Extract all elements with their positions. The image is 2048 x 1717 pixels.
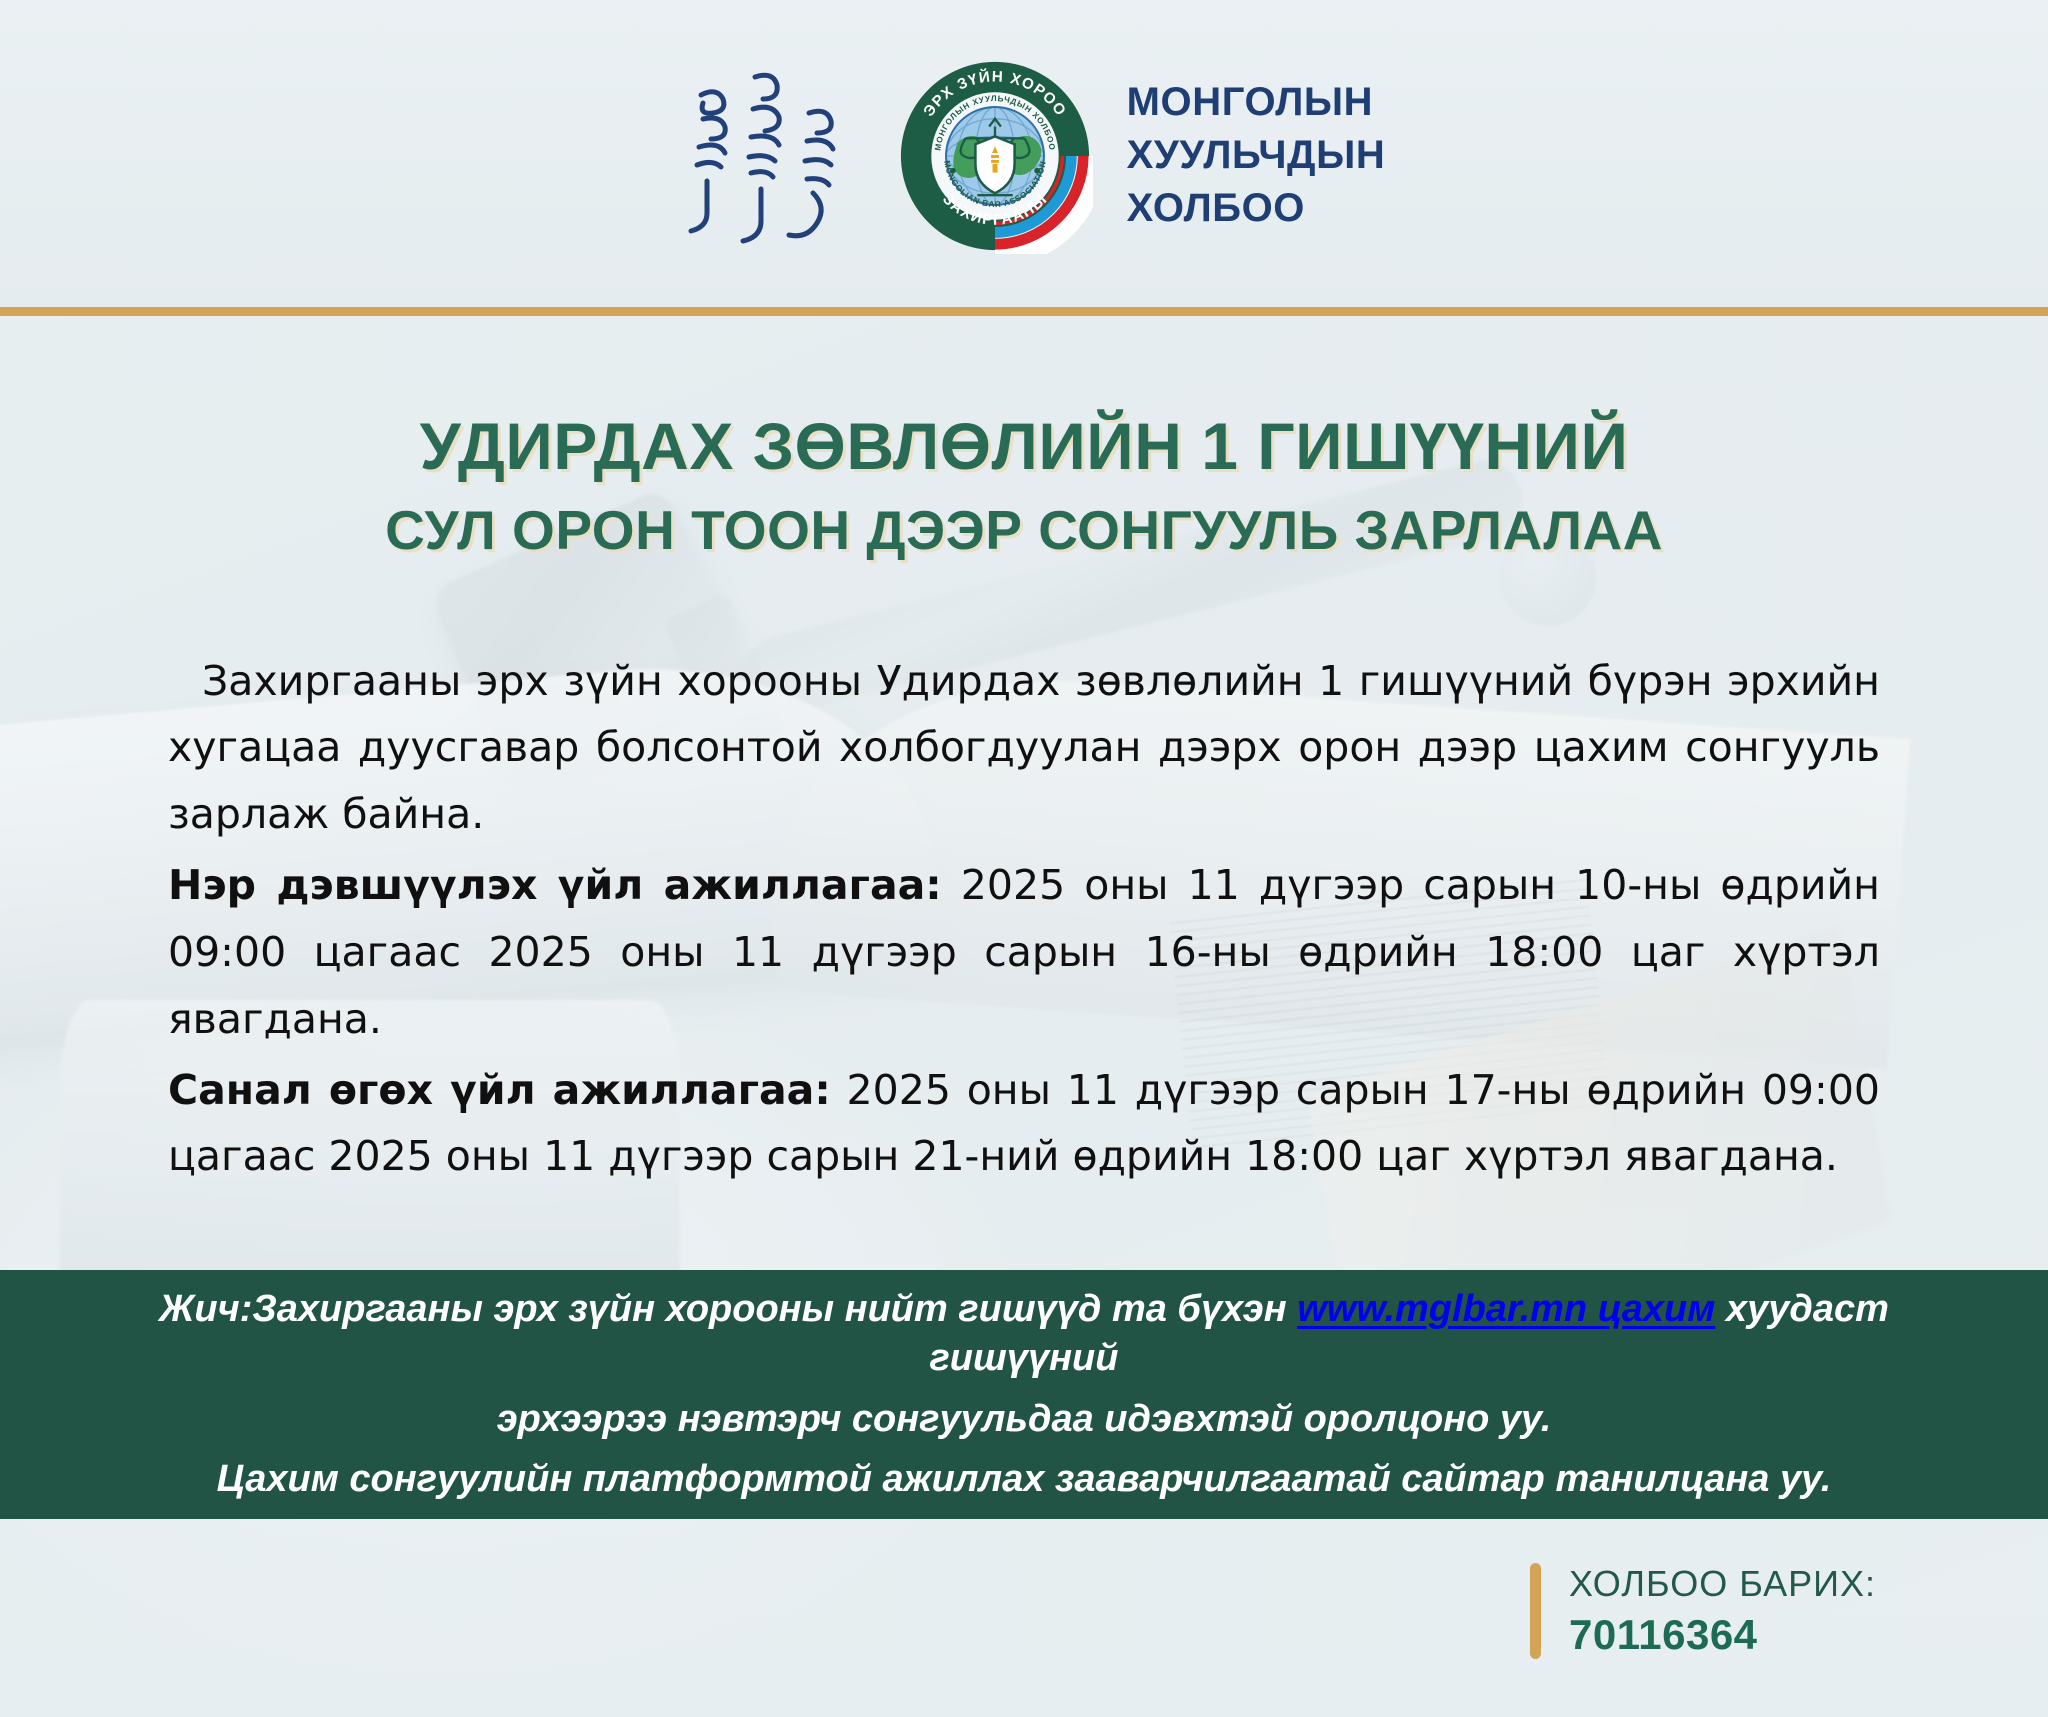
poster-content: УДИРДАХ ЗӨВЛӨЛИЙН 1 ГИШҮҮНИЙ СУЛ ОРОН ТО… — [0, 330, 2048, 1194]
mglbar-website-link[interactable]: www.mglbar.mn цахим — [1297, 1288, 1715, 1330]
body-paragraph-3: Санал өгөх үйл ажиллагаа: 2025 оны 11 дү… — [168, 1057, 1880, 1191]
organization-name: МОНГОЛЫН ХУУЛЬЧДЫН ХОЛБОО — [1127, 76, 1386, 234]
contact-phone-number[interactable]: 70116364 — [1569, 1611, 1876, 1659]
note-line-3: Цахим сонгуулийн платформтой ажиллах заа… — [217, 1455, 1832, 1504]
title-block: УДИРДАХ ЗӨВЛӨЛИЙН 1 ГИШҮҮНИЙ СУЛ ОРОН ТО… — [0, 330, 2048, 564]
note-line-1: Жич:Захиргааны эрх зүйн хорооны нийт гиш… — [70, 1285, 1978, 1382]
contact-accent-bar — [1530, 1563, 1541, 1659]
poster-header: ЭРХ ЗҮЙН ХОРОО ЗАХИРГААНЫ МОНГОЛЫН ХУУЛЬ… — [0, 0, 2048, 311]
contact-label: ХОЛБОО БАРИХ: — [1569, 1563, 1876, 1605]
voting-label: Санал өгөх үйл ажиллагаа: — [168, 1066, 831, 1114]
footer-note-band: Жич:Захиргааны эрх зүйн хорооны нийт гиш… — [0, 1270, 2048, 1519]
note-line-1-before: Жич:Захиргааны эрх зүйн хорооны нийт гиш… — [159, 1288, 1297, 1330]
note-line-2: эрхээрээ нэвтэрч сонгуульдаа идэвхтэй ор… — [497, 1395, 1552, 1444]
nomination-label: Нэр дэвшүүлэх үйл ажиллагаа: — [168, 861, 942, 909]
header-gold-divider — [0, 307, 2048, 316]
body-paragraph-2: Нэр дэвшүүлэх үйл ажиллагаа: 2025 оны 11… — [168, 852, 1880, 1052]
mongolian-bar-association-emblem: ЭРХ ЗҮЙН ХОРОО ЗАХИРГААНЫ МОНГОЛЫН ХУУЛЬ… — [897, 58, 1093, 254]
announcement-body: Захиргааны эрх зүйн хорооны Удирдах зөвл… — [168, 648, 1880, 1191]
page-title-line-1: УДИРДАХ ЗӨВЛӨЛИЙН 1 ГИШҮҮНИЙ — [0, 408, 2048, 485]
announcement-poster: ЭРХ ЗҮЙН ХОРОО ЗАХИРГААНЫ МОНГОЛЫН ХУУЛЬ… — [0, 0, 2048, 1717]
mongolian-script-icon — [663, 61, 863, 251]
contact-block: ХОЛБОО БАРИХ: 70116364 — [1530, 1563, 1876, 1659]
page-title-line-2: СУЛ ОРОН ТООН ДЭЭР СОНГУУЛЬ ЗАРЛАЛАА — [0, 497, 2048, 564]
contact-text: ХОЛБОО БАРИХ: 70116364 — [1569, 1563, 1876, 1659]
body-paragraph-1: Захиргааны эрх зүйн хорооны Удирдах зөвл… — [168, 648, 1880, 848]
